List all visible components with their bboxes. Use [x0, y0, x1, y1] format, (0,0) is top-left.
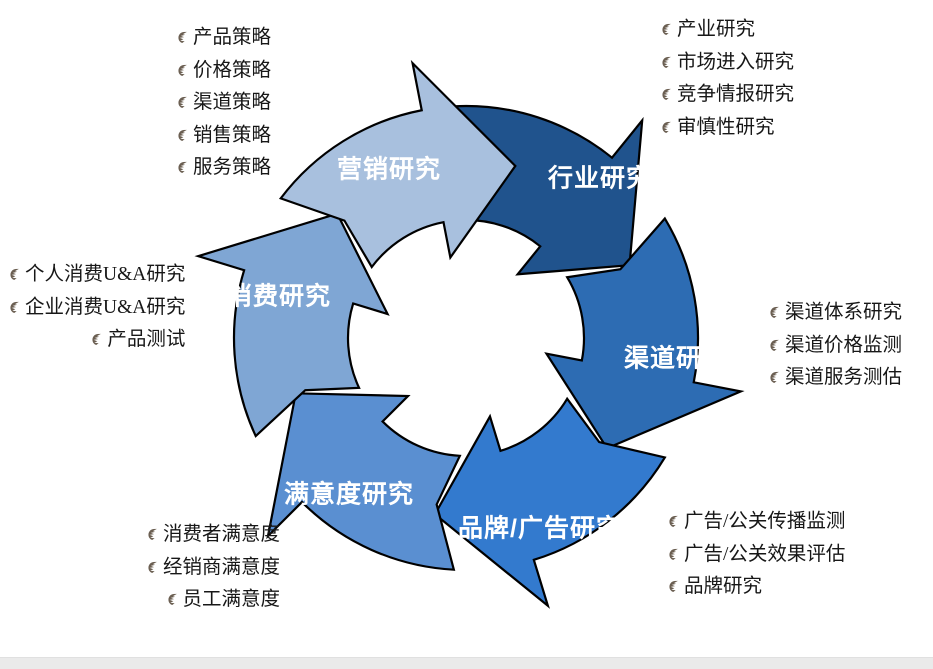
- list-item: 服务策略: [176, 158, 271, 178]
- segment-label-marketing: 营销研究: [337, 155, 441, 184]
- list-item: 渠道体系研究: [768, 303, 902, 323]
- list-item-label: 竞争情报研究: [677, 85, 794, 105]
- segment-label-industry: 行业研究: [547, 164, 652, 193]
- list-item: 广告/公关效果评估: [667, 545, 845, 565]
- bullet-icon: [768, 338, 783, 353]
- bullet-icon: [176, 63, 191, 78]
- list-item: 审慎性研究: [660, 118, 794, 138]
- bullet-icon-wrapper: [146, 560, 161, 575]
- list-item-label: 消费者满意度: [163, 525, 280, 545]
- bullet-icon: [90, 332, 105, 347]
- bullet-icon-wrapper: [90, 332, 105, 347]
- bullet-icon: [667, 547, 682, 562]
- list-item-label: 销售策略: [193, 126, 271, 146]
- bullet-list-satisfaction: 消费者满意度经销商满意度员工满意度: [146, 525, 280, 610]
- list-item: 企业消费U&A研究: [8, 298, 185, 318]
- list-item: 品牌研究: [667, 577, 845, 597]
- bullet-icon: [660, 55, 675, 70]
- bullet-icon: [768, 370, 783, 385]
- list-item: 产品策略: [176, 28, 271, 48]
- bullet-icon: [768, 305, 783, 320]
- bullet-icon: [660, 87, 675, 102]
- bullet-icon: [146, 560, 161, 575]
- segment-label-brand: 品牌/广告研究: [458, 514, 622, 543]
- list-item-label: 产品策略: [193, 28, 271, 48]
- list-item-label: 产业研究: [677, 20, 755, 40]
- list-item-label: 经销商满意度: [163, 558, 280, 578]
- list-item-label: 渠道服务测估: [785, 368, 902, 388]
- bullet-icon-wrapper: [768, 338, 783, 353]
- list-item: 市场进入研究: [660, 53, 794, 73]
- list-item: 销售策略: [176, 126, 271, 146]
- bullet-icon-wrapper: [176, 160, 191, 175]
- bullet-icon: [146, 527, 161, 542]
- list-item-label: 服务策略: [193, 158, 271, 178]
- bullet-icon: [660, 120, 675, 135]
- list-item: 渠道价格监测: [768, 336, 902, 356]
- bullet-icon-wrapper: [667, 579, 682, 594]
- list-item: 广告/公关传播监测: [667, 512, 845, 532]
- list-item: 价格策略: [176, 61, 271, 81]
- bullet-icon-wrapper: [8, 267, 23, 282]
- bullet-icon: [176, 30, 191, 45]
- bullet-icon: [176, 128, 191, 143]
- list-item-label: 渠道体系研究: [785, 303, 902, 323]
- list-item-label: 审慎性研究: [677, 118, 775, 138]
- bullet-icon-wrapper: [660, 55, 675, 70]
- list-item: 产品测试: [8, 330, 185, 350]
- bullet-icon-wrapper: [176, 128, 191, 143]
- bullet-icon-wrapper: [667, 514, 682, 529]
- bullet-list-brand: 广告/公关传播监测广告/公关效果评估品牌研究: [667, 512, 845, 597]
- bullet-icon-wrapper: [166, 592, 181, 607]
- segment-label-consumer: 消费研究: [227, 282, 331, 311]
- bullet-list-channel: 渠道体系研究渠道价格监测渠道服务测估: [768, 303, 902, 388]
- bullet-icon-wrapper: [660, 120, 675, 135]
- bullet-icon-wrapper: [8, 300, 23, 315]
- list-item: 产业研究: [660, 20, 794, 40]
- bullet-icon: [667, 579, 682, 594]
- bullet-icon-wrapper: [176, 95, 191, 110]
- bottom-strip: [0, 657, 933, 669]
- list-item: 渠道服务测估: [768, 368, 902, 388]
- list-item-label: 渠道价格监测: [785, 336, 902, 356]
- list-item-label: 产品测试: [107, 330, 185, 350]
- bullet-icon-wrapper: [768, 305, 783, 320]
- list-item: 经销商满意度: [146, 558, 280, 578]
- list-item: 个人消费U&A研究: [8, 265, 185, 285]
- bullet-icon: [8, 267, 23, 282]
- list-item-label: 广告/公关传播监测: [684, 512, 845, 532]
- bullet-icon: [176, 95, 191, 110]
- list-item-label: 员工满意度: [183, 590, 281, 610]
- bullet-icon-wrapper: [667, 547, 682, 562]
- bullet-icon-wrapper: [176, 63, 191, 78]
- bullet-icon-wrapper: [768, 370, 783, 385]
- list-item: 消费者满意度: [146, 525, 280, 545]
- bullet-icon-wrapper: [660, 87, 675, 102]
- list-item-label: 企业消费U&A研究: [25, 298, 185, 318]
- bullet-icon: [176, 160, 191, 175]
- bullet-icon-wrapper: [660, 22, 675, 37]
- bullet-list-industry: 产业研究市场进入研究竞争情报研究审慎性研究: [660, 20, 794, 137]
- bullet-icon-wrapper: [146, 527, 161, 542]
- list-item: 员工满意度: [146, 590, 280, 610]
- list-item-label: 品牌研究: [684, 577, 762, 597]
- list-item-label: 市场进入研究: [677, 53, 794, 73]
- bullet-icon: [166, 592, 181, 607]
- list-item: 竞争情报研究: [660, 85, 794, 105]
- diagram-canvas: 营销研究行业研究渠道研究品牌/广告研究满意度研究消费研究 产品策略价格策略渠道策…: [0, 0, 933, 669]
- segment-label-channel: 渠道研究: [624, 344, 728, 373]
- bullet-icon: [660, 22, 675, 37]
- bullet-list-marketing: 产品策略价格策略渠道策略销售策略服务策略: [176, 28, 271, 178]
- list-item-label: 个人消费U&A研究: [25, 265, 185, 285]
- list-item-label: 广告/公关效果评估: [684, 545, 845, 565]
- list-item-label: 渠道策略: [193, 93, 271, 113]
- segment-label-satisfaction: 满意度研究: [284, 480, 414, 509]
- bullet-icon: [8, 300, 23, 315]
- bullet-icon-wrapper: [176, 30, 191, 45]
- list-item-label: 价格策略: [193, 61, 271, 81]
- list-item: 渠道策略: [176, 93, 271, 113]
- bullet-icon: [667, 514, 682, 529]
- bullet-list-consumer: 个人消费U&A研究企业消费U&A研究产品测试: [8, 265, 185, 350]
